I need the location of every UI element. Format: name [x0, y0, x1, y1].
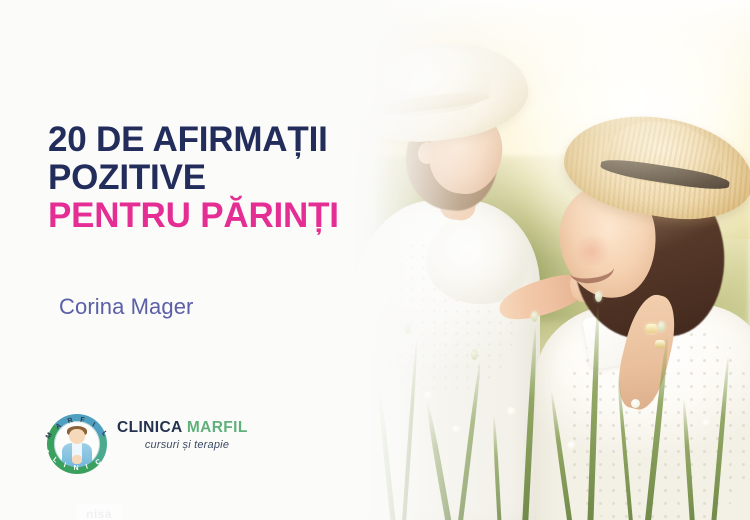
- brand-logo[interactable]: M A R F I L C L I N I C A CLINICA MARFIL…: [47, 412, 257, 478]
- poster-canvas: 20 DE AFIRMAȚII POZITIVE PENTRU PĂRINȚI …: [0, 0, 750, 520]
- hero-photo: [352, 0, 750, 520]
- logo-name-clinica: CLINICA: [117, 419, 182, 436]
- title-line-1: 20 DE AFIRMAȚII: [48, 121, 408, 159]
- logo-badge-icon: M A R F I L C L I N I C A: [47, 414, 107, 474]
- logo-name: CLINICA MARFIL: [117, 418, 257, 437]
- badge-arc-bottom-text: C L I N I C A: [50, 450, 104, 472]
- logo-tagline: cursuri și terapie: [117, 439, 257, 451]
- photo-scene: [352, 0, 750, 520]
- page-title: 20 DE AFIRMAȚII POZITIVE PENTRU PĂRINȚI: [48, 121, 408, 235]
- photo-left-fade: [352, 0, 527, 520]
- title-line-3: PENTRU PĂRINȚI: [48, 197, 408, 235]
- logo-name-marfil: MARFIL: [187, 419, 248, 436]
- logo-wordmark: CLINICA MARFIL cursuri și terapie: [117, 418, 257, 451]
- author-name: Corina Mager: [59, 294, 193, 320]
- badge-arc-top-text: M A R F I L: [49, 414, 105, 440]
- title-line-2: POZITIVE: [48, 159, 408, 197]
- watermark-text: nisa: [76, 504, 122, 520]
